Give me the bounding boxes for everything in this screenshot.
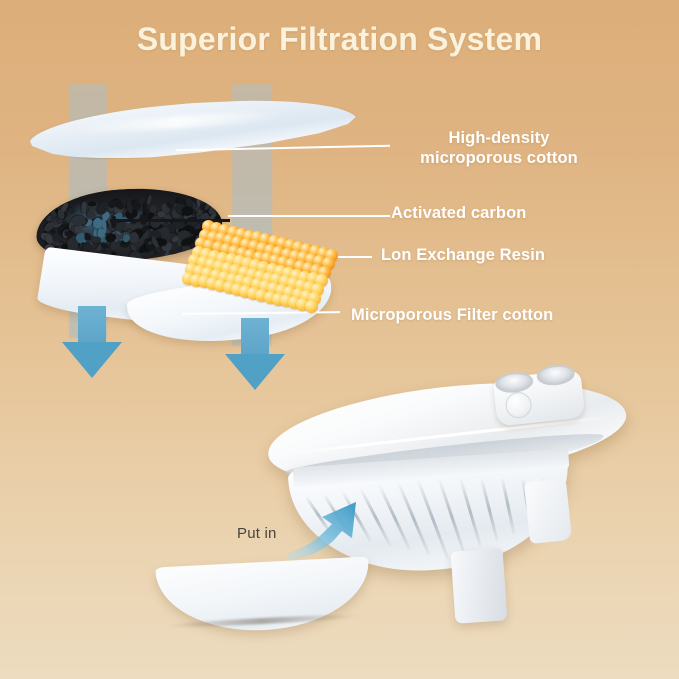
- arrow-down-icon-left: [62, 306, 122, 378]
- pump-port-icon-2: [536, 363, 576, 387]
- label-high-density-microporous-cotton: High-density microporous cotton: [399, 128, 599, 168]
- infographic-canvas: Superior Filtration System High-density …: [0, 0, 679, 679]
- layer-ion-exchange-resin: [176, 218, 324, 290]
- carbon-granule: [196, 196, 201, 207]
- carbon-granule: [81, 202, 86, 214]
- label-line-2: microporous cotton: [399, 148, 599, 168]
- carbon-granule: [86, 209, 95, 218]
- tray-rib: [378, 484, 411, 550]
- tray-rib: [397, 481, 430, 555]
- resin-bead-grid: [176, 218, 324, 290]
- label-microporous-filter-cotton: Microporous Filter cotton: [351, 305, 553, 325]
- resin-bead: [305, 300, 318, 313]
- leader-line-carbon: [228, 215, 390, 217]
- pump-port-icon-1: [494, 371, 534, 395]
- appliance-side-bracket: [524, 478, 572, 544]
- carbon-granule: [66, 205, 76, 215]
- arrow-shaft: [78, 306, 106, 346]
- pump-module: [493, 370, 586, 427]
- label-line-1: High-density: [399, 128, 599, 148]
- arrow-shaft: [241, 318, 269, 358]
- tray-rib: [501, 477, 516, 534]
- label-ion-exchange-resin: Lon Exchange Resin: [381, 245, 545, 265]
- curved-arrow-up-right-icon: [282, 490, 374, 560]
- tray-rib: [480, 477, 498, 541]
- tray-rib: [459, 477, 482, 547]
- label-activated-carbon: Activated carbon: [391, 203, 526, 223]
- appliance-stem: [451, 548, 508, 623]
- page-title: Superior Filtration System: [0, 21, 679, 58]
- put-in-label: Put in: [237, 525, 277, 542]
- power-button[interactable]: [504, 391, 533, 420]
- arrow-body: [286, 502, 356, 560]
- arrow-head: [62, 342, 122, 378]
